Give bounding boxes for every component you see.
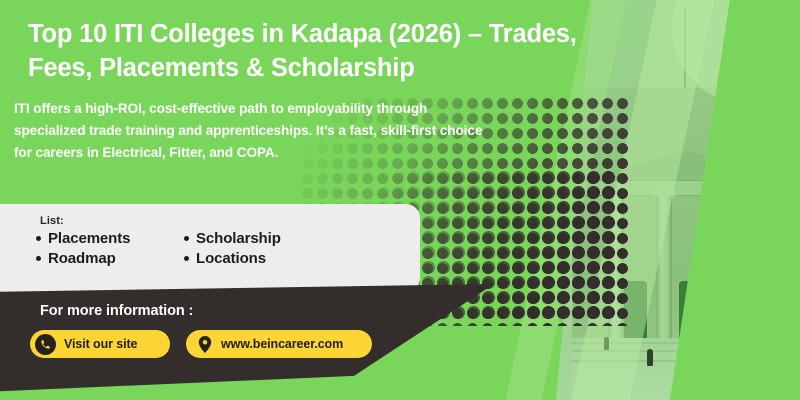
bullet-icon <box>36 256 41 261</box>
banner-description: ITI offers a high-ROI, cost-effective pa… <box>14 98 484 164</box>
list-item: Roadmap <box>36 250 184 267</box>
list-item: Scholarship <box>184 230 281 247</box>
visit-site-label: Visit our site <box>64 337 137 351</box>
list-item: Placements <box>36 230 184 247</box>
list-grid: Placements Scholarship Roadmap Locations <box>36 230 281 267</box>
list-label: List: <box>40 215 64 227</box>
list-item-label: Roadmap <box>48 250 116 267</box>
list-item-label: Placements <box>48 230 130 247</box>
bullet-icon <box>184 236 189 241</box>
list-item-label: Scholarship <box>196 230 281 247</box>
website-button[interactable]: www.beincareer.com <box>186 330 372 358</box>
page-title: Top 10 ITI Colleges in Kadapa (2026) – T… <box>28 18 603 86</box>
bullet-icon <box>36 236 41 241</box>
bullet-icon <box>184 256 189 261</box>
footer-title: For more information : <box>40 303 193 319</box>
website-label: www.beincareer.com <box>221 337 343 351</box>
list-item-label: Locations <box>196 250 266 267</box>
promo-banner: Top 10 ITI Colleges in Kadapa (2026) – T… <box>0 0 800 400</box>
location-pin-icon <box>194 334 215 355</box>
phone-icon <box>35 334 56 355</box>
list-item: Locations <box>184 250 281 267</box>
visit-site-button[interactable]: Visit our site <box>30 330 170 358</box>
list-card: List: Placements Scholarship Roadmap Loc… <box>0 204 420 292</box>
